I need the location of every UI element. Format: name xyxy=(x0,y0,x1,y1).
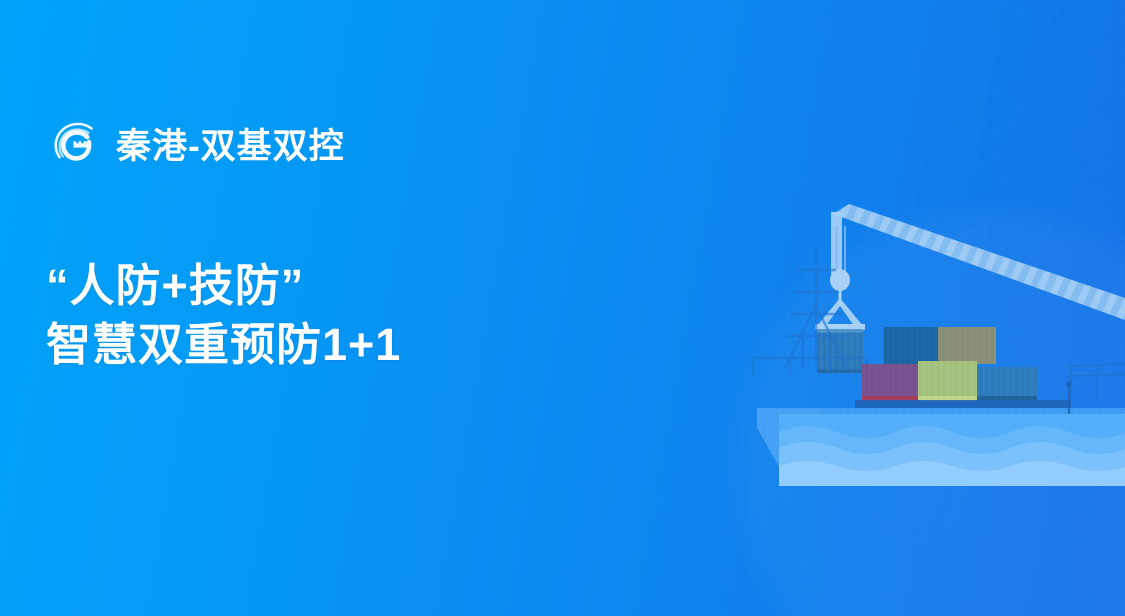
shipping-containers xyxy=(862,327,1037,401)
water-waves xyxy=(779,414,1125,486)
cargo-ship-port-illustration xyxy=(745,186,1125,496)
headline-line-2: 智慧双重预防1+1 xyxy=(46,316,401,375)
headline-block: “人防+技防” 智慧双重预防1+1 xyxy=(46,257,401,374)
brand-name: 秦港-双基双控 xyxy=(116,129,345,164)
headline-line-1: “人防+技防” xyxy=(46,257,401,316)
deck-railing-right xyxy=(1071,364,1125,400)
wave-g-logo-icon xyxy=(47,118,103,174)
brand-lockup: 秦港-双基双控 xyxy=(47,118,345,174)
deck-strip xyxy=(855,400,1071,409)
gantry-crane xyxy=(815,204,1125,330)
promo-banner: 秦港-双基双控 “人防+技防” 智慧双重预防1+1 xyxy=(0,0,1125,616)
